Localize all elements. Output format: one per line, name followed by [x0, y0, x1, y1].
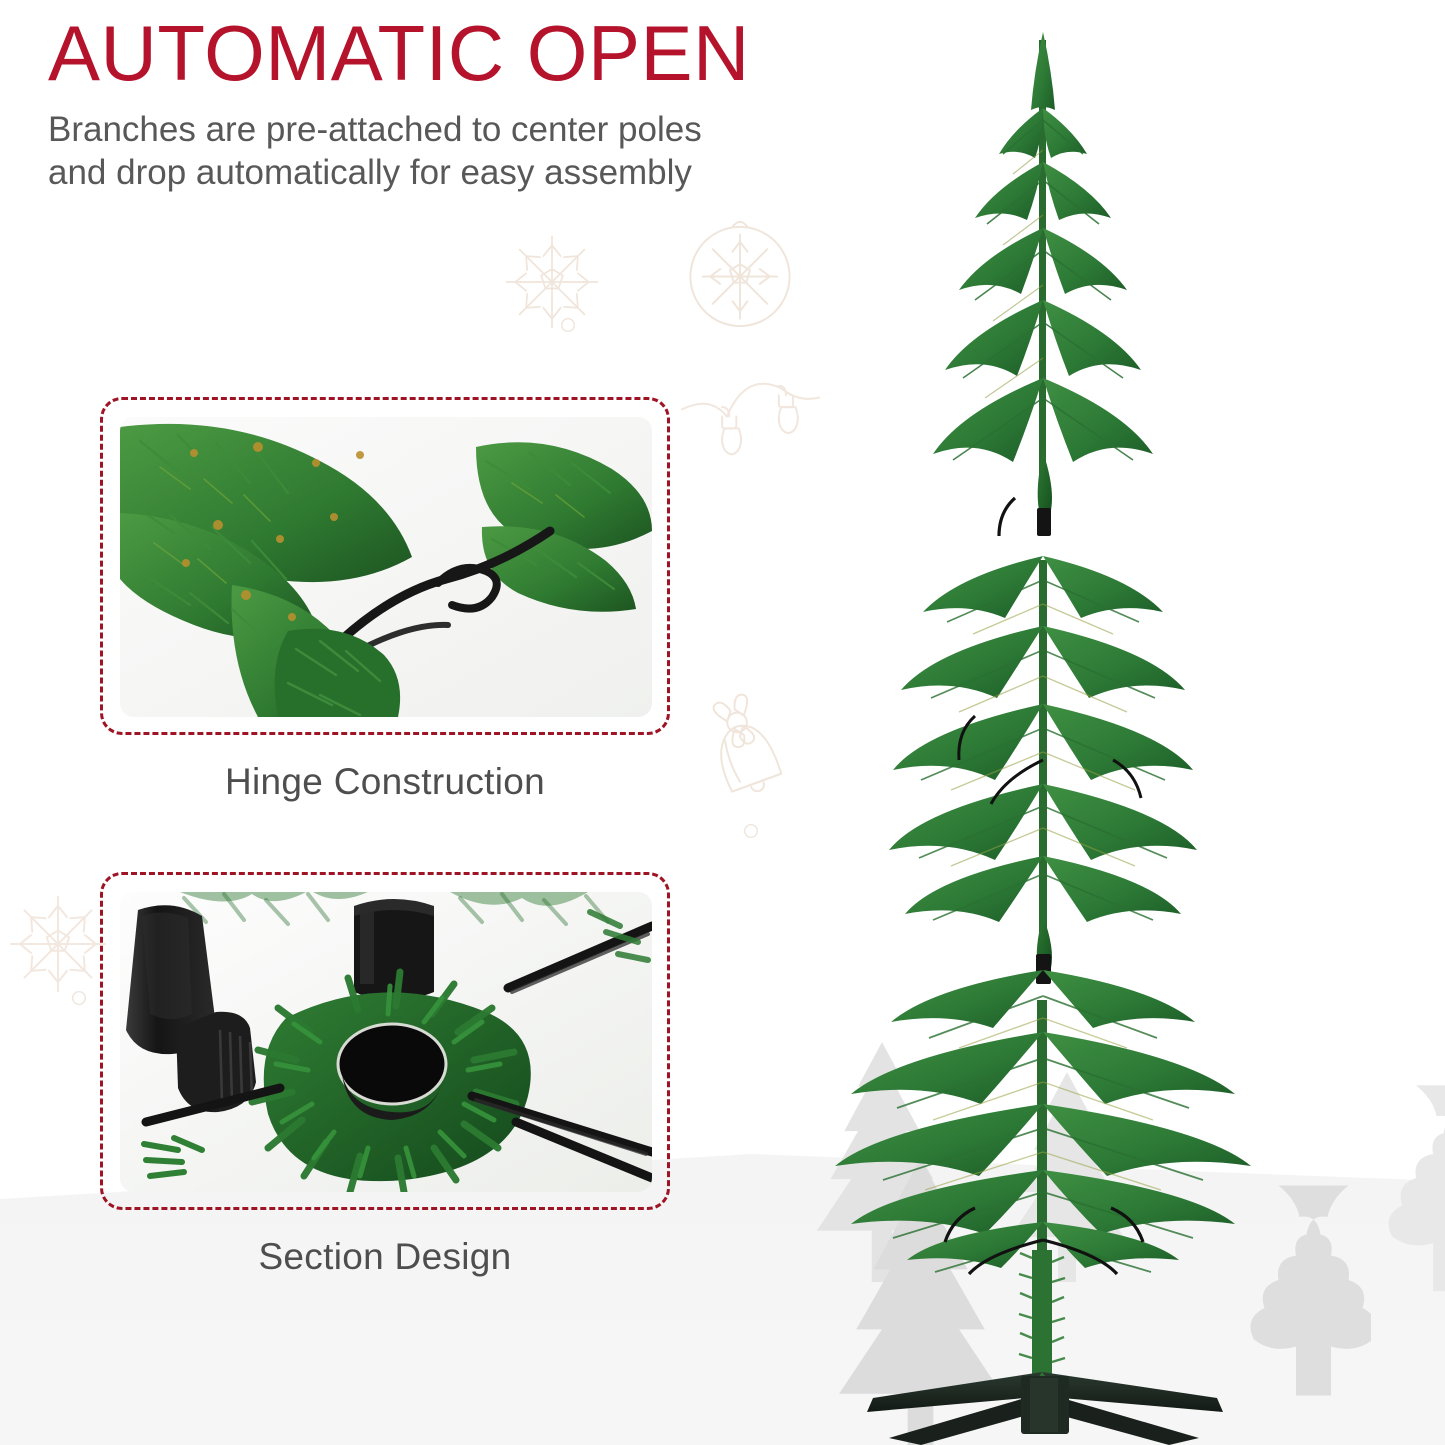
page-subtitle-line-1: Branches are pre-attached to center pole…	[48, 108, 948, 151]
snowflake-icon	[498, 228, 606, 336]
tree-trunk	[1019, 1250, 1065, 1380]
feature-caption-section-design: Section Design	[100, 1236, 670, 1278]
string-lights-icon	[678, 348, 823, 478]
snowflake-ornament-icon	[678, 212, 802, 336]
page-subtitle-line-2: and drop automatically for easy assembly	[48, 151, 948, 194]
dot-icon	[559, 316, 577, 334]
dashed-frame	[100, 397, 670, 735]
headline-block: AUTOMATIC OPEN Branches are pre-attached…	[48, 16, 968, 195]
dashed-frame	[100, 872, 670, 1210]
dot-icon	[70, 989, 88, 1007]
feature-panel-section-design: Section Design	[100, 872, 670, 1278]
tree-bottom-section	[835, 970, 1251, 1380]
pole-connector	[1037, 508, 1051, 536]
feature-panel-hinge-construction: Hinge Construction	[100, 397, 670, 803]
feature-caption-hinge-construction: Hinge Construction	[100, 761, 670, 803]
hinge-construction-photo	[120, 417, 652, 717]
pole-connector	[1036, 954, 1051, 984]
section-design-photo	[120, 892, 652, 1192]
tree-stand	[867, 1372, 1223, 1445]
page-title: AUTOMATIC OPEN	[48, 16, 968, 90]
dot-icon	[742, 822, 760, 840]
center-pole-stub	[354, 899, 434, 1000]
snowflake-icon	[2, 888, 114, 1000]
hinge-wire	[999, 498, 1015, 536]
bell-icon	[682, 692, 802, 812]
infographic-canvas: AUTOMATIC OPEN Branches are pre-attached…	[0, 0, 1445, 1445]
tree-middle-section	[889, 556, 1197, 984]
product-christmas-tree-photo	[825, 0, 1445, 1445]
page-subtitle: Branches are pre-attached to center pole…	[48, 108, 948, 195]
